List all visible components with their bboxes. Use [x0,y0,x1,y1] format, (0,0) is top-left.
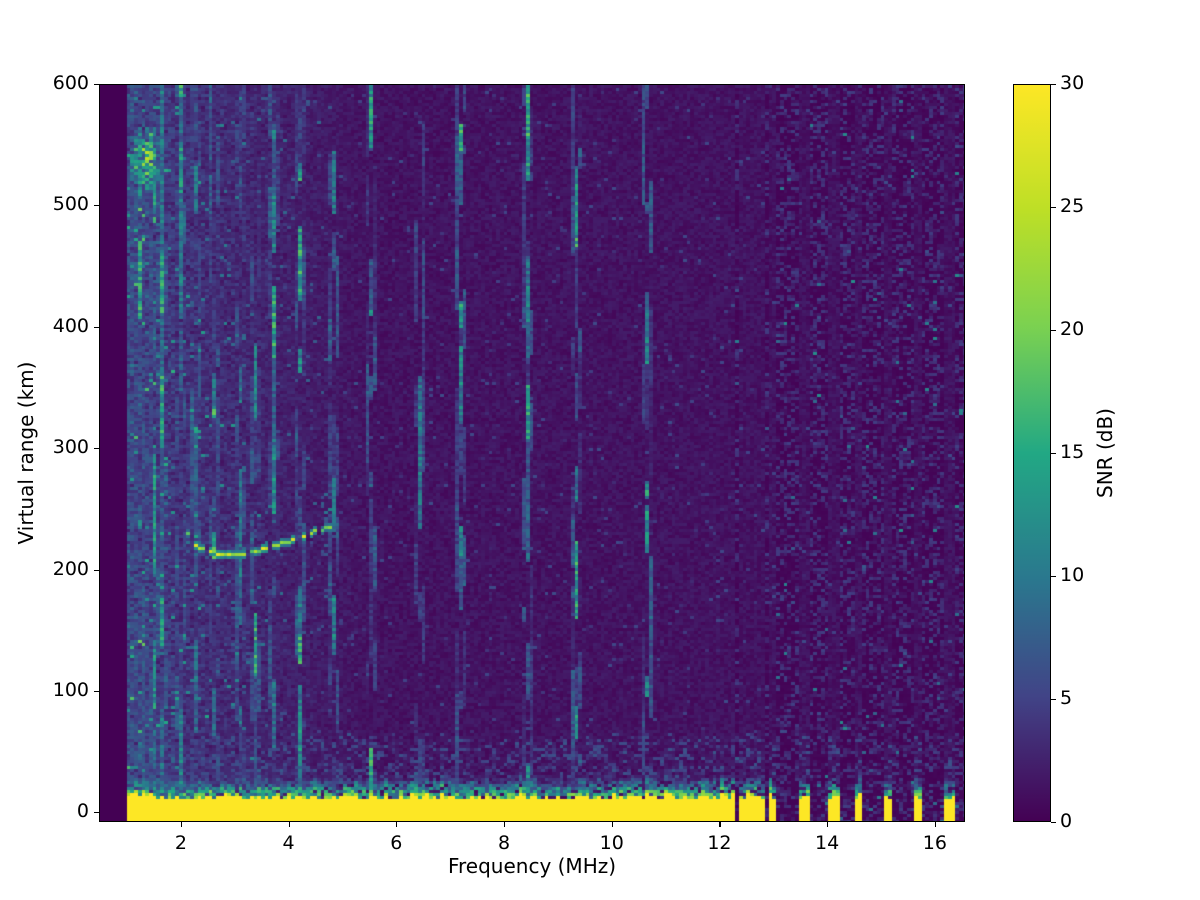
y-tick-mark [94,812,99,813]
x-axis-label: Frequency (MHz) [99,855,965,877]
colorbar-tick-label: 20 [1060,320,1084,339]
y-axis-label: Virtual range (km) [15,84,37,822]
ionogram-figure: IRF Uppsala SDR Ionosonde UP158 2025-11-… [0,0,1200,900]
colorbar[interactable] [1013,84,1051,822]
x-tick-label: 10 [572,834,652,853]
colorbar-tick-label: 30 [1060,74,1084,93]
colorbar-tick-mark [1051,330,1056,331]
colorbar-tick-label: 0 [1060,812,1072,831]
ionogram-plot-area[interactable] [99,84,965,822]
y-tick-mark [94,84,99,85]
x-tick-label: 16 [895,834,975,853]
y-tick-mark [94,570,99,571]
colorbar-tick-label: 10 [1060,566,1084,585]
y-tick-label: 200 [0,560,89,579]
x-tick-mark [181,822,182,827]
x-tick-mark [504,822,505,827]
y-tick-label: 100 [0,681,89,700]
x-tick-mark [719,822,720,827]
y-tick-mark [94,691,99,692]
x-tick-label: 12 [679,834,759,853]
y-tick-label: 400 [0,317,89,336]
colorbar-tick-label: 5 [1060,689,1072,708]
x-tick-mark [289,822,290,827]
x-tick-mark [935,822,936,827]
y-tick-label: 500 [0,195,89,214]
colorbar-tick-mark [1051,84,1056,85]
colorbar-gradient [1014,85,1050,821]
x-tick-label: 6 [356,834,436,853]
x-tick-label: 14 [787,834,867,853]
y-tick-label: 600 [0,74,89,93]
y-tick-mark [94,205,99,206]
colorbar-tick-label: 15 [1060,443,1084,462]
colorbar-tick-mark [1051,822,1056,823]
ionogram-heatmap-canvas [100,85,965,822]
colorbar-tick-mark [1051,453,1056,454]
colorbar-tick-mark [1051,576,1056,577]
y-tick-label: 0 [0,802,89,821]
x-tick-label: 8 [464,834,544,853]
y-tick-mark [94,327,99,328]
x-tick-mark [396,822,397,827]
y-tick-mark [94,448,99,449]
colorbar-tick-mark [1051,207,1056,208]
colorbar-label: SNR (dB) [1094,84,1116,822]
colorbar-tick-label: 25 [1060,197,1084,216]
x-tick-mark [612,822,613,827]
colorbar-tick-mark [1051,699,1056,700]
x-tick-label: 4 [249,834,329,853]
x-tick-mark [827,822,828,827]
x-tick-label: 2 [141,834,221,853]
